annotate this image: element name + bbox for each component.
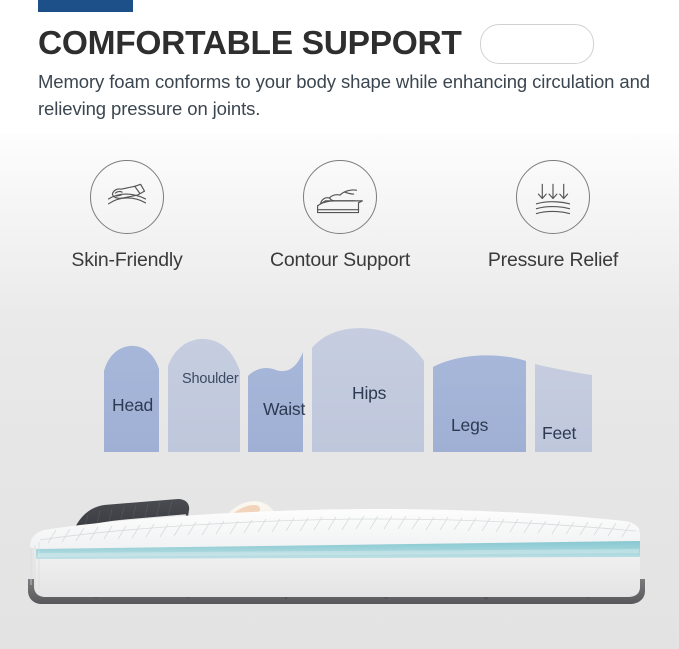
title-row: COMFORTABLE SUPPORT [38,22,658,66]
feature-item-pressure-relief: Pressure Relief [453,160,653,272]
feature-label: Skin-Friendly [27,249,227,272]
mattress-topper [28,509,645,604]
feature-strip: Skin-Friendly Contour Support [0,134,679,309]
scene-section: Head Shoulder Waist Hips Legs Feet [0,309,679,649]
page-title: COMFORTABLE SUPPORT [38,27,462,61]
accent-bar [38,0,133,12]
down-arrows-on-layers-icon [516,160,590,234]
feature-item-skin-friendly: Skin-Friendly [27,160,227,272]
feature-label: Pressure Relief [453,249,653,272]
subtitle-text: Memory foam conforms to your body shape … [38,69,654,122]
header-section: COMFORTABLE SUPPORT Memory foam conforms… [0,0,679,134]
feature-item-contour-support: Contour Support [240,160,440,272]
scene-artwork [0,309,679,649]
body-on-mattress-icon [303,160,377,234]
feature-label: Contour Support [240,249,440,272]
product-infographic: COMFORTABLE SUPPORT Memory foam conforms… [0,0,679,649]
logo-placeholder-pill [480,24,594,64]
hand-on-foam-icon [90,160,164,234]
